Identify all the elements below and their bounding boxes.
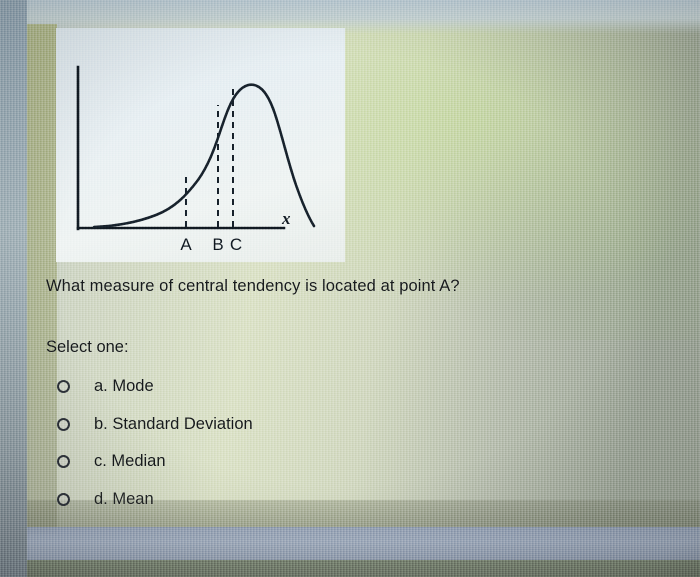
option-label-a: a. Mode bbox=[94, 377, 154, 396]
background-left-strip bbox=[0, 0, 27, 577]
photographed-screen: A B C x What measure of central tendency… bbox=[0, 0, 700, 577]
answer-options-list: a. Mode b. Standard Deviation c. Median … bbox=[46, 368, 466, 518]
option-row-a[interactable]: a. Mode bbox=[46, 368, 466, 406]
background-bottom-band bbox=[0, 560, 700, 577]
radio-button-d[interactable] bbox=[57, 493, 70, 506]
select-one-prompt: Select one: bbox=[46, 338, 129, 357]
point-label-a: A bbox=[180, 235, 192, 254]
option-label-c: c. Median bbox=[94, 452, 166, 471]
radio-button-c[interactable] bbox=[57, 455, 70, 468]
option-row-d[interactable]: d. Mean bbox=[46, 481, 466, 519]
x-axis-label: x bbox=[281, 209, 291, 228]
option-label-b: b. Standard Deviation bbox=[94, 415, 253, 434]
option-label-d: d. Mean bbox=[94, 490, 154, 509]
radio-button-b[interactable] bbox=[57, 418, 70, 431]
radio-button-a[interactable] bbox=[57, 380, 70, 393]
question-figure: A B C x bbox=[56, 28, 345, 262]
point-label-b: B bbox=[212, 235, 223, 254]
skewed-distribution-chart: A B C x bbox=[56, 28, 345, 262]
question-stem: What measure of central tendency is loca… bbox=[46, 277, 646, 296]
point-label-c: C bbox=[230, 235, 242, 254]
background-blue-band bbox=[0, 527, 700, 560]
option-row-b[interactable]: b. Standard Deviation bbox=[46, 406, 466, 444]
density-curve bbox=[94, 85, 314, 227]
option-row-c[interactable]: c. Median bbox=[46, 443, 466, 481]
